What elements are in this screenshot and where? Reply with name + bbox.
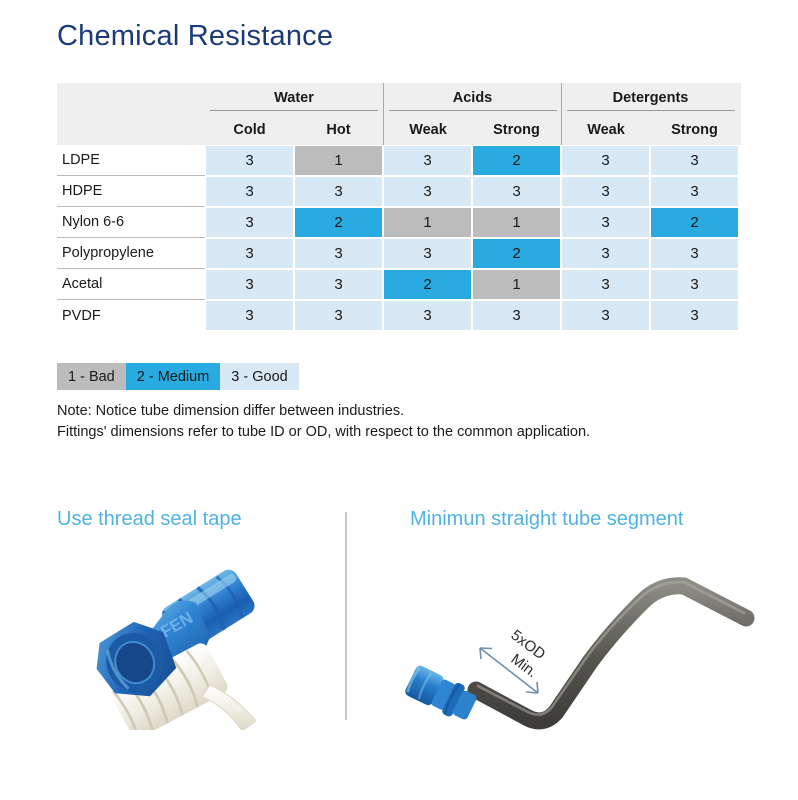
- rating-cell: 3: [294, 269, 383, 300]
- page-title: Chemical Resistance: [57, 20, 333, 53]
- chemical-resistance-page: Chemical Resistance Water Acids Detergen…: [0, 0, 798, 800]
- rating-cell: 1: [472, 269, 561, 300]
- section-heading-thread-seal-tape: Use thread seal tape: [57, 508, 242, 531]
- column-header-detergents-strong: Strong: [650, 114, 739, 145]
- section-divider: [345, 512, 347, 720]
- fitting-illustration: TEFEN: [60, 545, 340, 730]
- rating-cell: 3: [205, 145, 294, 176]
- rating-cell: 2: [294, 207, 383, 238]
- tube-illustration: 5xOD Min.: [398, 540, 758, 740]
- table-header: Water Acids Detergents Cold Hot Weak Str…: [57, 83, 741, 145]
- table-row: HDPE333333: [57, 176, 741, 207]
- rating-cell: 3: [561, 269, 650, 300]
- legend-item-3: 3 - Good: [220, 363, 298, 390]
- section-heading-straight-tube-segment: Minimun straight tube segment: [410, 508, 683, 531]
- rating-cell: 3: [561, 238, 650, 269]
- column-group-acids: Acids: [383, 83, 561, 114]
- row-label-material: Polypropylene: [57, 238, 205, 269]
- legend-item-2: 2 - Medium: [126, 363, 221, 390]
- row-label-material: Acetal: [57, 269, 205, 300]
- column-group-water: Water: [205, 83, 383, 114]
- rating-cell: 3: [650, 145, 739, 176]
- straight-tube-segment-figure: 5xOD Min.: [398, 540, 758, 740]
- note-line-1: Note: Notice tube dimension differ betwe…: [57, 401, 787, 422]
- rating-cell: 3: [205, 238, 294, 269]
- table-corner-cell-lower: [57, 114, 205, 145]
- rating-cell: 3: [383, 145, 472, 176]
- column-header-acids-strong: Strong: [472, 114, 561, 145]
- column-header-water-cold: Cold: [205, 114, 294, 145]
- rating-cell: 3: [383, 300, 472, 331]
- legend-item-1: 1 - Bad: [57, 363, 126, 390]
- rating-cell: 2: [472, 238, 561, 269]
- thread-seal-tape-figure: TEFEN: [60, 545, 340, 730]
- rating-cell: 3: [205, 269, 294, 300]
- rating-cell: 1: [294, 145, 383, 176]
- table-row: Polypropylene333233: [57, 238, 741, 269]
- rating-cell: 1: [472, 207, 561, 238]
- rating-cell: 3: [205, 207, 294, 238]
- row-label-material: Nylon 6-6: [57, 207, 205, 238]
- rating-cell: 3: [294, 238, 383, 269]
- column-header-detergents-weak: Weak: [561, 114, 650, 145]
- row-label-material: HDPE: [57, 176, 205, 207]
- chemical-resistance-table: Water Acids Detergents Cold Hot Weak Str…: [57, 83, 741, 331]
- rating-cell: 2: [383, 269, 472, 300]
- rating-cell: 3: [561, 300, 650, 331]
- note-block: Note: Notice tube dimension differ betwe…: [57, 401, 787, 443]
- rating-cell: 3: [205, 300, 294, 331]
- table-header-group-row: Water Acids Detergents: [57, 83, 741, 114]
- table-row: Nylon 6-6321132: [57, 207, 741, 238]
- rating-cell: 2: [472, 145, 561, 176]
- rating-cell: 3: [472, 300, 561, 331]
- rating-cell: 3: [294, 300, 383, 331]
- rating-cell: 1: [383, 207, 472, 238]
- column-header-acids-weak: Weak: [383, 114, 472, 145]
- rating-cell: 3: [650, 238, 739, 269]
- row-label-material: PVDF: [57, 300, 205, 331]
- column-header-water-hot: Hot: [294, 114, 383, 145]
- rating-cell: 3: [205, 176, 294, 207]
- rating-cell: 3: [383, 238, 472, 269]
- table-body: LDPE313233HDPE333333Nylon 6-6321132Polyp…: [57, 145, 741, 331]
- table-row: Acetal332133: [57, 269, 741, 300]
- table-row: LDPE313233: [57, 145, 741, 176]
- rating-cell: 3: [294, 176, 383, 207]
- rating-cell: 3: [561, 145, 650, 176]
- column-group-detergents: Detergents: [561, 83, 739, 114]
- rating-cell: 3: [383, 176, 472, 207]
- rating-cell: 3: [650, 269, 739, 300]
- note-line-2: Fittings' dimensions refer to tube ID or…: [57, 422, 787, 443]
- table-corner-cell: [57, 83, 205, 114]
- rating-cell: 3: [472, 176, 561, 207]
- row-label-material: LDPE: [57, 145, 205, 176]
- rating-cell: 3: [561, 207, 650, 238]
- rating-cell: 2: [650, 207, 739, 238]
- rating-cell: 3: [561, 176, 650, 207]
- rating-legend: 1 - Bad2 - Medium3 - Good: [57, 363, 299, 390]
- table-row: PVDF333333: [57, 300, 741, 331]
- rating-cell: 3: [650, 176, 739, 207]
- table-header-sub-row: Cold Hot Weak Strong Weak Strong: [57, 114, 741, 145]
- rating-cell: 3: [650, 300, 739, 331]
